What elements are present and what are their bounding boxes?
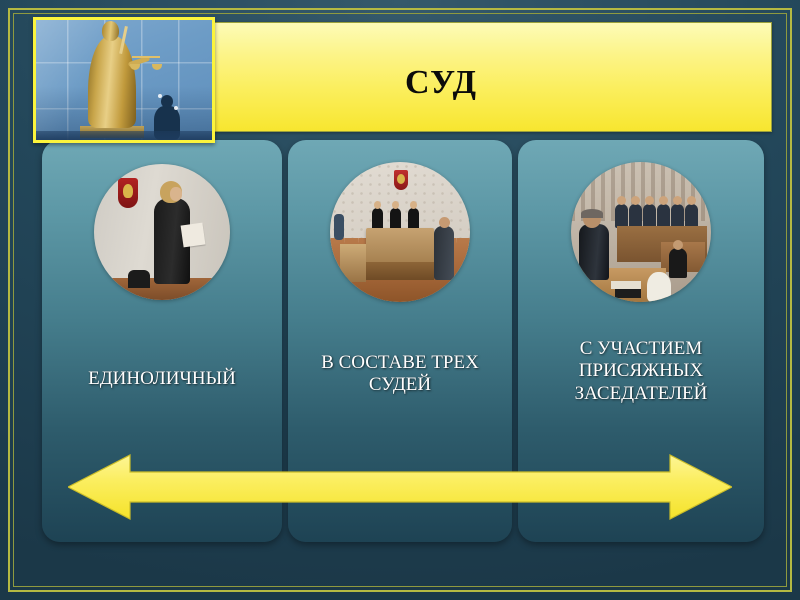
courtroom-scene xyxy=(94,164,230,300)
double-headed-arrow xyxy=(68,452,732,522)
card-label: В СОСТАВЕ ТРЕХ СУДЕЙ xyxy=(298,352,502,397)
seated-person xyxy=(669,248,687,278)
judge-figure xyxy=(372,208,383,230)
bench-base xyxy=(366,262,434,280)
light-spot-icon xyxy=(174,106,178,110)
juror-figure xyxy=(615,204,628,228)
judges-bench xyxy=(366,228,434,264)
podium xyxy=(340,244,366,282)
chair xyxy=(128,270,150,288)
railing xyxy=(36,131,212,140)
statue-scales-beam xyxy=(132,56,160,58)
juror-figure xyxy=(657,204,670,228)
three-judges-photo xyxy=(330,162,470,302)
juror-figure xyxy=(671,204,684,228)
courtroom-scene xyxy=(330,162,470,302)
coat-of-arms-icon xyxy=(394,170,408,190)
books xyxy=(615,289,641,298)
white-object xyxy=(647,272,671,302)
juror-figure xyxy=(643,204,656,228)
juror-figure xyxy=(629,204,642,228)
statue-body xyxy=(88,36,136,128)
coat-of-arms-icon xyxy=(118,178,138,208)
jury-crowd xyxy=(615,188,705,228)
document-paper xyxy=(181,223,206,248)
juror-figure xyxy=(685,204,698,228)
lady-justice-photo xyxy=(33,17,215,143)
judge-figure xyxy=(408,208,419,230)
judge-figure xyxy=(390,208,401,230)
card-label: С УЧАСТИЕМ ПРИСЯЖНЫХ ЗАСЕДАТЕЛЕЙ xyxy=(528,338,754,405)
arrow-shape xyxy=(68,455,732,519)
slide-canvas: СУД ЕДИНОЛИЧНЫЙ xyxy=(0,0,800,600)
side-figure xyxy=(334,214,344,240)
single-judge-photo xyxy=(94,164,230,300)
light-spot-icon xyxy=(158,94,162,98)
papers xyxy=(611,281,641,289)
jury-trial-photo xyxy=(571,162,711,302)
page-title: СУД xyxy=(405,64,477,102)
standing-person xyxy=(434,226,454,280)
card-label: ЕДИНОЛИЧНЫЙ xyxy=(52,368,272,390)
judge-face xyxy=(170,187,182,201)
courtroom-scene xyxy=(571,162,711,302)
judge-hair xyxy=(581,209,603,218)
judge-figure xyxy=(579,224,609,280)
statue-head xyxy=(102,21,119,41)
